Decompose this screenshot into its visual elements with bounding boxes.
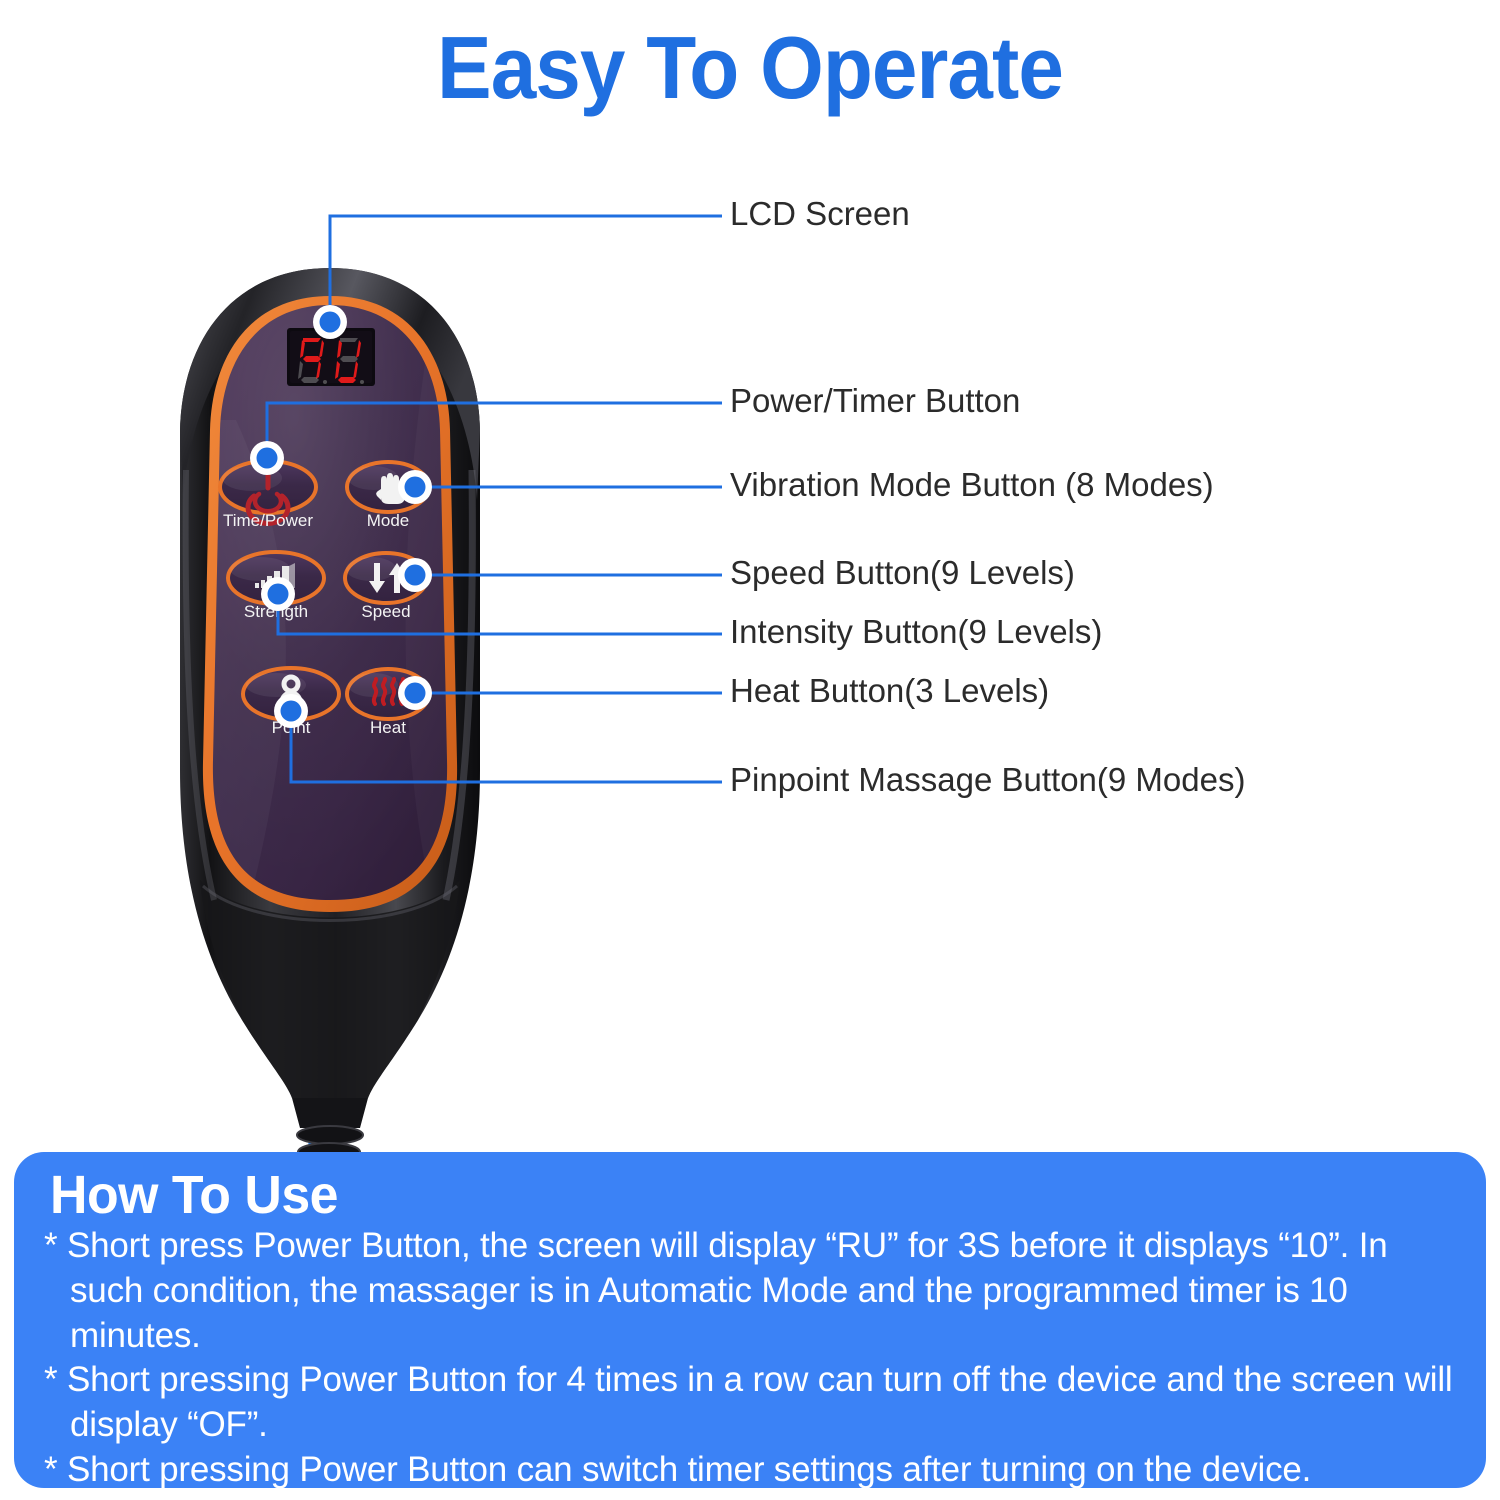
infographic-canvas: Easy To Operate [0,0,1500,1500]
callout-anchor-dots [250,305,432,728]
leader-intensity [278,594,722,634]
callout-heat-button: Heat Button(3 Levels) [730,672,1049,710]
leader-lcd-screen [330,216,722,322]
callout-vibration-mode: Vibration Mode Button (8 Modes) [730,466,1214,504]
callout-intensity-button: Intensity Button(9 Levels) [730,613,1102,651]
callout-power-timer: Power/Timer Button [730,382,1020,420]
leader-pinpoint [291,711,722,782]
callout-lcd-screen: LCD Screen [730,195,910,233]
callout-speed-button: Speed Button(9 Levels) [730,554,1075,592]
callout-pinpoint-button: Pinpoint Massage Button(9 Modes) [730,761,1245,799]
leader-power-timer [267,403,722,458]
